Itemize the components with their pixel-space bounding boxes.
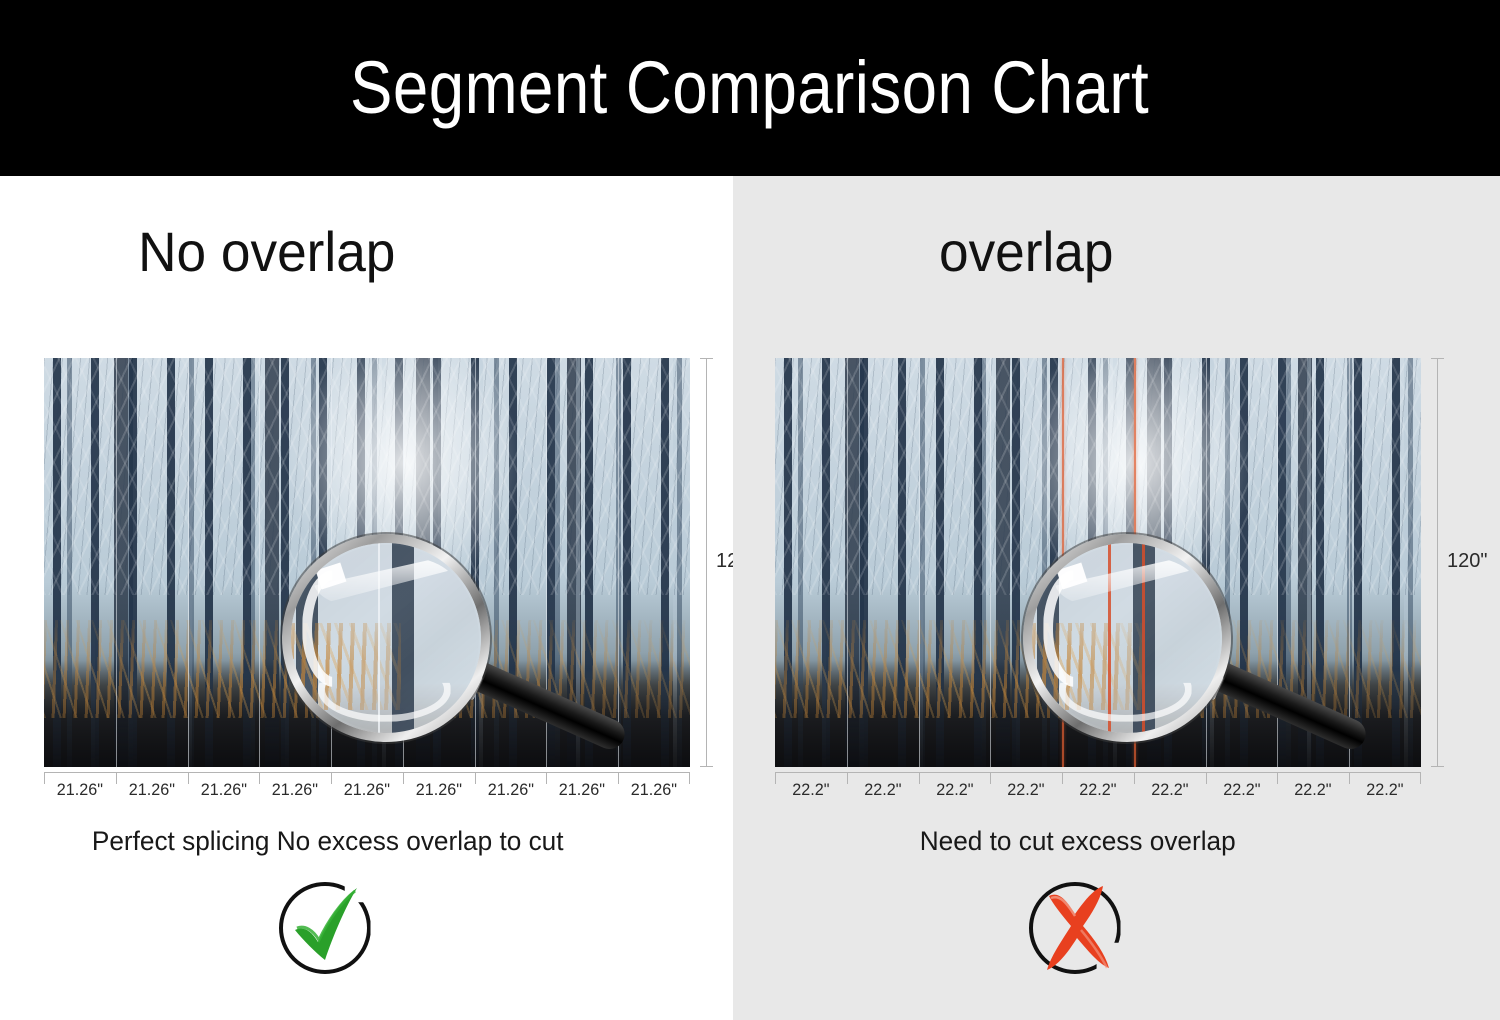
height-dimension-label: 120"	[1447, 550, 1487, 573]
forest-mural-image	[775, 358, 1421, 767]
caption-overlap: Need to cut excess overlap	[745, 826, 1489, 857]
segment-label: 21.26"	[476, 780, 544, 800]
segment-labels-overlap: 22.2" 22.2" 22.2" 22.2" 22.2" 22.2" 22.2…	[775, 780, 1421, 800]
cross-badge	[1023, 876, 1131, 984]
segment-label: 21.26"	[333, 780, 401, 800]
segment-label: 22.2"	[920, 780, 988, 800]
segment-label: 22.2"	[1064, 780, 1132, 800]
sun-glow	[1020, 358, 1250, 593]
panel-heading-overlap: overlap	[752, 224, 1481, 280]
segment-label: 22.2"	[1136, 780, 1204, 800]
caption-no-overlap: Perfect splicing No excess overlap to cu…	[11, 826, 722, 857]
segment-label: 21.26"	[261, 780, 329, 800]
autumn-foliage	[44, 620, 690, 718]
cross-icon	[1031, 880, 1125, 976]
segment-label: 21.26"	[405, 780, 473, 800]
segment-label: 22.2"	[992, 780, 1060, 800]
sun-glow	[289, 358, 519, 593]
check-icon	[287, 882, 369, 974]
segment-label: 22.2"	[1207, 780, 1275, 800]
height-dimension-line	[1437, 358, 1438, 767]
segment-label: 21.26"	[189, 780, 257, 800]
segment-label: 21.26"	[620, 780, 688, 800]
segment-label: 21.26"	[548, 780, 616, 800]
segment-label: 21.26"	[118, 780, 186, 800]
verdict-no-overlap	[0, 876, 733, 984]
width-dimension-row: 22.2" 22.2" 22.2" 22.2" 22.2" 22.2" 22.2…	[775, 772, 1421, 802]
forest-mural-image	[44, 358, 690, 767]
title-banner: Segment Comparison Chart	[0, 0, 1500, 176]
mural-overlap	[775, 358, 1421, 767]
page-title: Segment Comparison Chart	[350, 51, 1149, 125]
segment-label: 21.26"	[46, 780, 114, 800]
segment-label: 22.2"	[1279, 780, 1347, 800]
segment-comparison-chart: Segment Comparison Chart No overlap	[0, 0, 1500, 1020]
autumn-foliage	[775, 620, 1421, 718]
width-dimension-row: 21.26" 21.26" 21.26" 21.26" 21.26" 21.26…	[44, 772, 690, 802]
verdict-overlap	[733, 876, 1500, 984]
panel-heading-no-overlap: No overlap	[18, 224, 714, 280]
panel-no-overlap: No overlap	[0, 176, 733, 1020]
segment-label: 22.2"	[777, 780, 845, 800]
segment-label: 22.2"	[1351, 780, 1419, 800]
panel-overlap: overlap	[733, 176, 1500, 1020]
height-dimension-line	[706, 358, 707, 767]
segment-label: 22.2"	[849, 780, 917, 800]
check-badge	[273, 876, 381, 984]
segment-labels-no-overlap: 21.26" 21.26" 21.26" 21.26" 21.26" 21.26…	[44, 780, 690, 800]
mural-no-overlap	[44, 358, 690, 767]
